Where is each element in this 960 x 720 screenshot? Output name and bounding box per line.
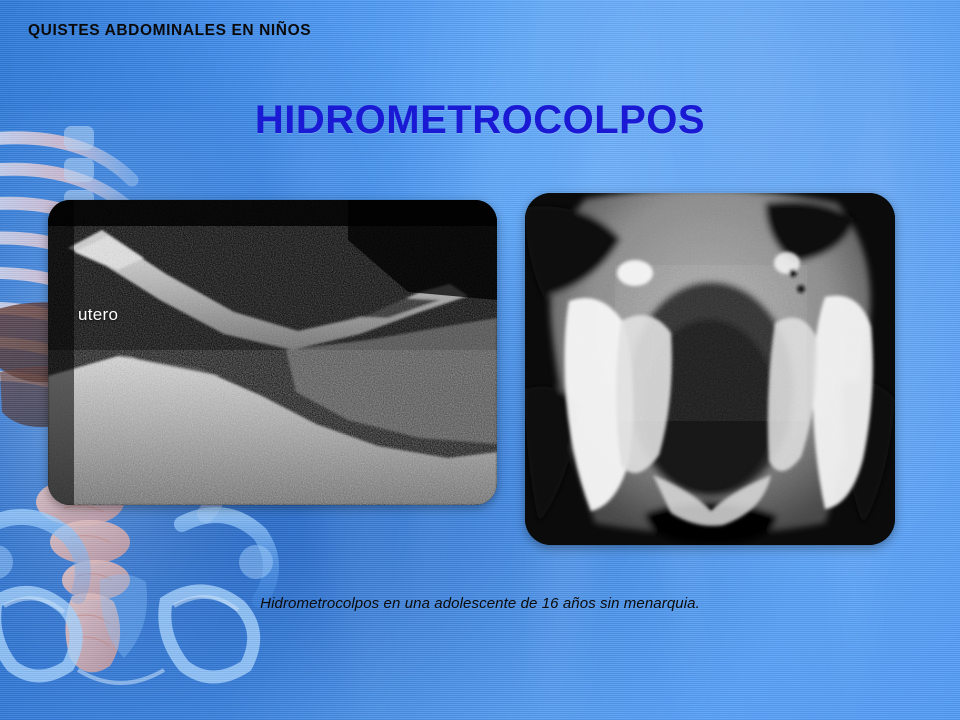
presentation-slide: QUISTES ABDOMINALES EN NIÑOS HIDROMETROC… xyxy=(0,0,960,720)
ct-scan-image xyxy=(525,193,895,545)
ultrasound-image xyxy=(48,200,497,505)
figure-caption: Hidrometrocolpos en una adolescente de 1… xyxy=(0,595,960,612)
ultrasound-label-utero: utero xyxy=(78,305,118,325)
page-title: HIDROMETROCOLPOS xyxy=(0,98,960,143)
slide-kicker: QUISTES ABDOMINALES EN NIÑOS xyxy=(28,22,311,40)
